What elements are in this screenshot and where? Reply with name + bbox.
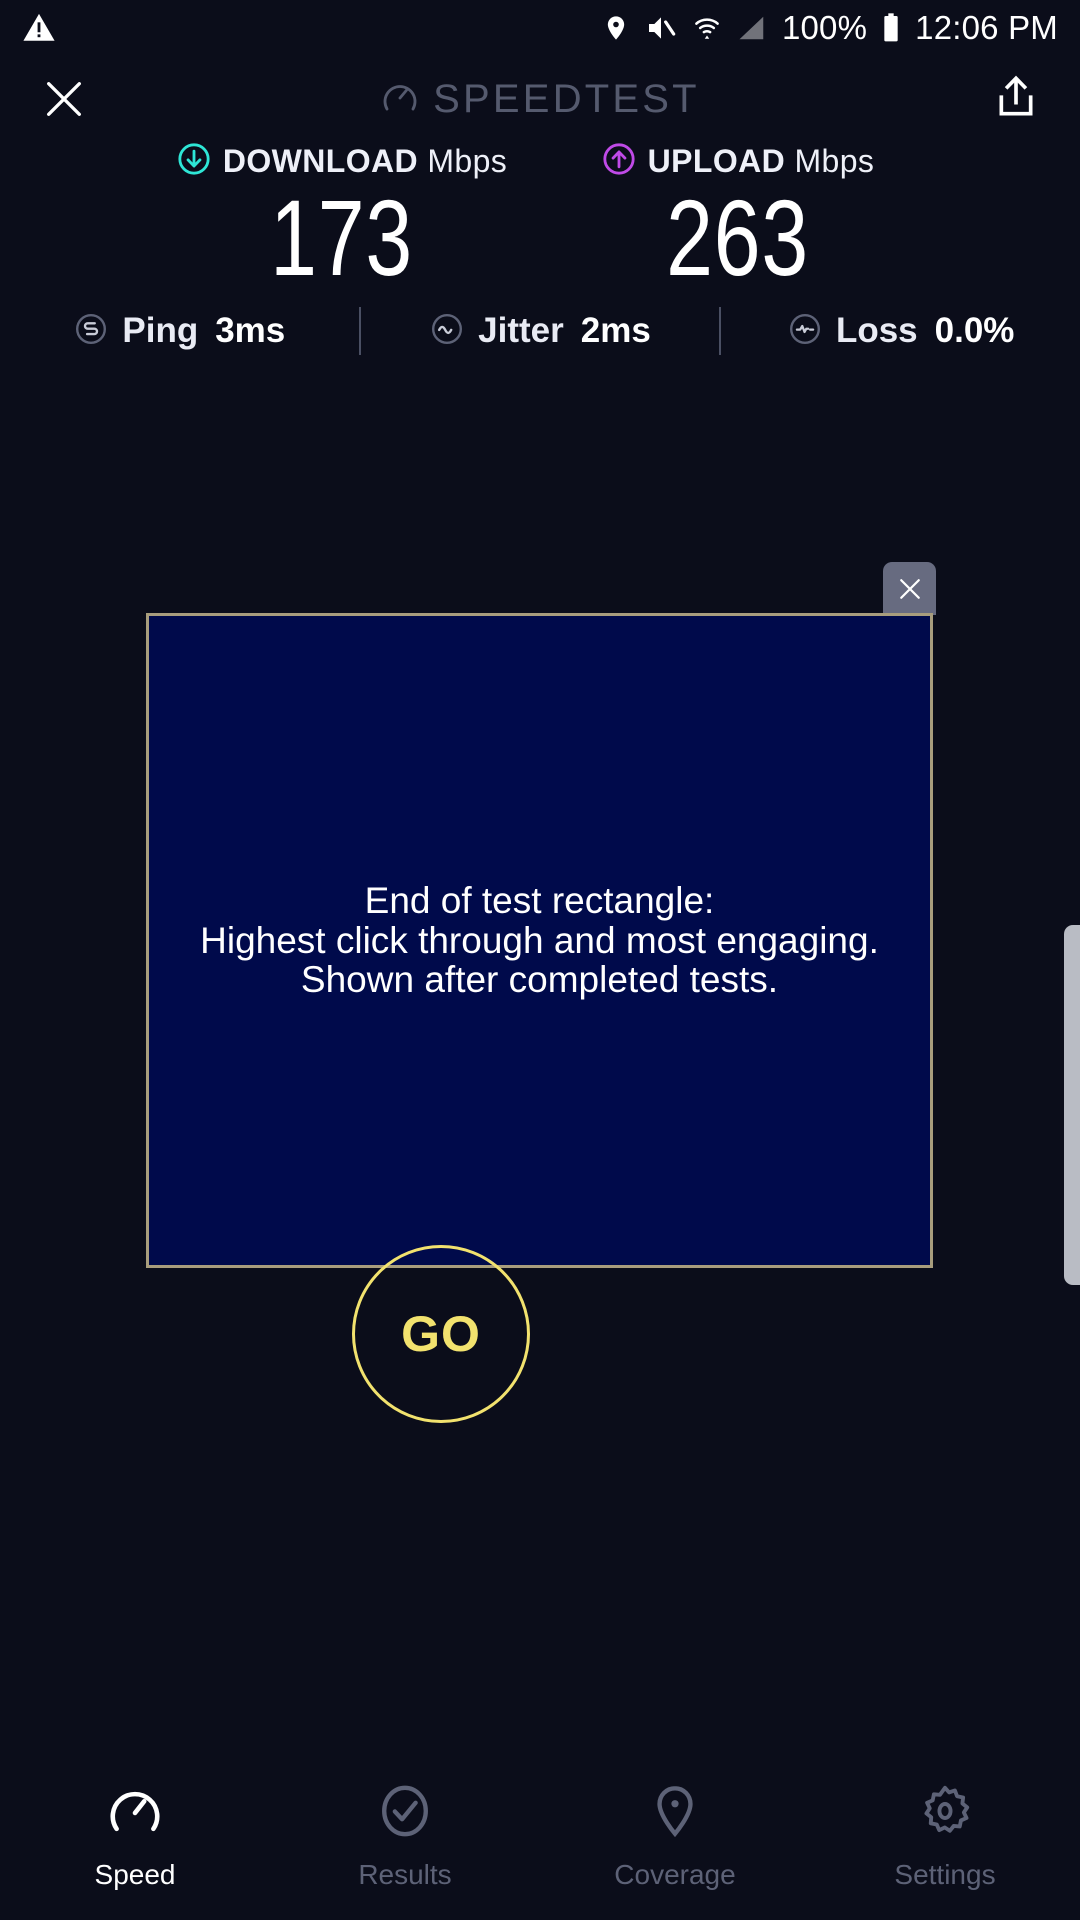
check-circle-icon [376, 1782, 434, 1845]
ping-icon [73, 311, 109, 352]
clock-label: 12:06 PM [915, 9, 1058, 47]
brand-title: SPEEDTEST [0, 77, 1080, 122]
metric-loss-value: 0.0% [935, 311, 1015, 351]
bottom-navigation: Speed Results Coverage [0, 1770, 1080, 1920]
metric-jitter: Jitter 2ms [361, 311, 720, 352]
speedometer-icon [106, 1782, 164, 1845]
mute-icon [644, 12, 678, 44]
app-header: SPEEDTEST [0, 56, 1080, 142]
go-button-label: GO [401, 1305, 481, 1363]
cellular-signal-icon [736, 13, 768, 43]
ad-text: End of test rectangle: Highest click thr… [200, 881, 879, 1001]
download-label: DOWNLOAD Mbps [223, 143, 507, 180]
close-icon [41, 76, 87, 122]
metrics-row: Ping 3ms Jitter 2ms Los [0, 302, 1080, 360]
nav-item-speed[interactable]: Speed [0, 1782, 270, 1891]
nav-item-coverage[interactable]: Coverage [540, 1782, 810, 1891]
metric-loss-label: Loss [836, 311, 918, 351]
brand-label: SPEEDTEST [433, 77, 700, 122]
share-button[interactable] [988, 69, 1044, 129]
go-button[interactable]: GO [352, 1245, 530, 1423]
download-arrow-icon [177, 142, 211, 181]
download-label-row: DOWNLOAD Mbps [177, 142, 507, 181]
results-row: DOWNLOAD Mbps 173 UPLOAD Mbps 263 [0, 142, 1080, 293]
metric-ping-label: Ping [122, 311, 198, 351]
upload-label: UPLOAD Mbps [648, 143, 875, 180]
upload-result: UPLOAD Mbps 263 [573, 142, 903, 293]
upload-arrow-icon [602, 142, 636, 181]
upload-label-row: UPLOAD Mbps [602, 142, 875, 181]
gear-icon [916, 1782, 974, 1845]
metric-jitter-value: 2ms [581, 311, 651, 351]
metric-ping-value: 3ms [215, 311, 285, 351]
speedometer-icon [380, 77, 420, 122]
map-pin-icon [646, 1782, 704, 1845]
loss-icon [787, 311, 823, 352]
status-bar-left [22, 11, 56, 45]
close-icon [895, 574, 925, 604]
metric-ping: Ping 3ms [0, 311, 359, 352]
advertisement[interactable]: End of test rectangle: Highest click thr… [146, 613, 933, 1268]
nav-item-settings[interactable]: Settings [810, 1782, 1080, 1891]
download-result: DOWNLOAD Mbps 173 [177, 142, 507, 293]
battery-full-icon [881, 12, 901, 44]
nav-item-results[interactable]: Results [270, 1782, 540, 1891]
nav-item-coverage-label: Coverage [614, 1859, 735, 1891]
vertical-scrollbar[interactable] [1064, 925, 1080, 1285]
download-value: 173 [271, 183, 414, 293]
upload-value: 263 [667, 183, 810, 293]
speedtest-app-screen: 100% 12:06 PM SPEEDTEST [0, 0, 1080, 1920]
metric-loss: Loss 0.0% [721, 311, 1080, 352]
ad-close-button[interactable] [883, 562, 936, 615]
nav-item-settings-label: Settings [894, 1859, 995, 1891]
warning-triangle-icon [22, 11, 56, 45]
nav-item-results-label: Results [358, 1859, 451, 1891]
status-bar: 100% 12:06 PM [0, 0, 1080, 56]
metric-jitter-label: Jitter [478, 311, 564, 351]
ad-rectangle[interactable]: End of test rectangle: Highest click thr… [146, 613, 933, 1268]
share-icon [994, 75, 1038, 123]
location-pin-icon [602, 12, 630, 44]
status-bar-right: 100% 12:06 PM [602, 9, 1058, 47]
nav-item-speed-label: Speed [95, 1859, 176, 1891]
battery-percent-label: 100% [782, 9, 867, 47]
results-section: DOWNLOAD Mbps 173 UPLOAD Mbps 263 [0, 142, 1080, 293]
jitter-icon [429, 311, 465, 352]
wifi-icon [692, 12, 722, 44]
close-button[interactable] [36, 71, 92, 127]
